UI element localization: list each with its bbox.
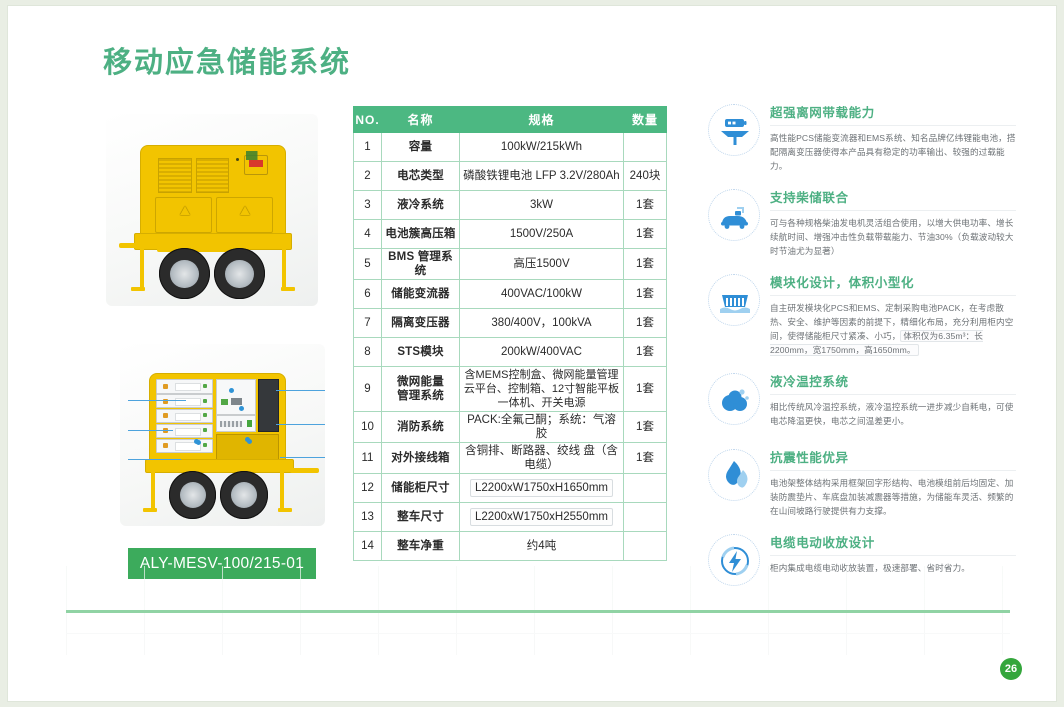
feature-list: 超强离网带载能力高性能PCS储能变流器和EMS系统、知名品牌亿纬锂能电池，搭配隔… [708,102,1016,608]
warning-triangle-icon [240,206,250,215]
table-row: 3液冷系统3kW1套 [354,191,667,220]
cell-name: 隔离变压器 [382,309,460,338]
feature-item: 支持柴储联合可与各种规格柴油发电机灵活组合使用，以增大供电功率、增长续航时间、增… [708,187,1016,258]
cell-name: 消防系统 [382,412,460,443]
table-row: 7隔离变压器380/400V，100kVA1套 [354,309,667,338]
cell-no: 11 [354,443,382,474]
cell-spec: 约4吨 [460,532,624,561]
cell-qty [624,532,667,561]
table-header-row: NO. 名称 规格 数量 [354,107,667,133]
cell-qty: 1套 [624,443,667,474]
col-header-qty: 数量 [624,107,667,133]
indicator-lamp [236,158,239,161]
cell-no: 4 [354,220,382,249]
photo-trailer-closed [106,114,318,306]
feature-description: 高性能PCS储能变流器和EMS系统、知名品牌亿纬锂能电池，搭配隔离变压器使得本产… [770,131,1016,173]
cabinet-body [140,145,286,237]
support-foot-rear [281,287,295,291]
cell-no: 1 [354,133,382,162]
col-header-no: NO. [354,107,382,133]
page-title: 移动应急储能系统 [103,44,351,82]
decorative-grid [66,613,1010,655]
cell-no: 5 [354,249,382,280]
callout-dot [239,406,244,411]
module-cabinet-icon [708,274,760,326]
cell-spec: 磷酸铁锂电池 LFP 3.2V/280Ah [460,162,624,191]
battery-plug-icon [708,104,760,156]
cell-qty: 1套 [624,367,667,412]
cell-spec: 380/400V，100kVA [460,309,624,338]
feature-title: 电缆电动收放设计 [770,532,1016,556]
cell-name: 液冷系统 [382,191,460,220]
cell-no: 13 [354,503,382,532]
cell-qty: 240块 [624,162,667,191]
slide-canvas: 移动应急储能系统 [8,6,1056,701]
feature-item: 超强离网带载能力高性能PCS储能变流器和EMS系统、知名品牌亿纬锂能电池，搭配隔… [708,102,1016,173]
callout-dot [247,439,252,444]
support-leg-front [140,246,144,288]
callout-line [276,424,325,425]
col-header-spec: 规格 [460,107,624,133]
cell-name: 对外接线箱 [382,443,460,474]
warning-triangle-icon [180,206,190,215]
cell-no: 8 [354,338,382,367]
callout-dot [229,388,234,393]
cell-name: 储能变流器 [382,280,460,309]
cell-no: 9 [354,367,382,412]
support-leg-rear [280,471,284,509]
cell-spec: 3kW [460,191,624,220]
feature-item: 抗震性能优异电池架整体结构采用框架回字形结构、电池模组前后均固定、加装防震垫片、… [708,447,1016,518]
support-foot-rear [278,508,292,512]
table-row: 12储能柜尺寸L2200xW1750xH1650mm [354,474,667,503]
cell-qty [624,503,667,532]
table-row: 2电芯类型磷酸铁锂电池 LFP 3.2V/280Ah240块 [354,162,667,191]
cell-qty [624,474,667,503]
trailer-illustration-closed [106,114,318,306]
battery-pack-shelf [156,439,212,453]
control-compartment [216,379,256,414]
access-door-right [216,197,273,233]
cell-name: 整车净重 [382,532,460,561]
cell-name: 储能柜尺寸 [382,474,460,503]
col-header-name: 名称 [382,107,460,133]
table-row: 6储能变流器400VAC/100kW1套 [354,280,667,309]
callout-line [276,390,325,391]
support-leg-front [151,471,155,509]
cell-qty: 1套 [624,280,667,309]
cell-spec: 100kW/215kWh [460,133,624,162]
cell-qty: 1套 [624,412,667,443]
cabinet-body-open [149,373,286,462]
cell-no: 2 [354,162,382,191]
louver-vent-left [158,158,192,192]
cell-spec: 含MEMS控制盒、微网能量管理云平台、控制箱、12寸智能平板一体机、开关电源 [460,367,624,412]
cell-spec: 高压1500V [460,249,624,280]
cell-no: 14 [354,532,382,561]
callout-line [128,400,185,401]
louver-vent-right [196,158,230,192]
cell-no: 3 [354,191,382,220]
cell-qty: 1套 [624,220,667,249]
cell-qty: 1套 [624,249,667,280]
table-row: 14整车净重约4吨 [354,532,667,561]
table-row: 11对外接线箱含铜排、断路器、绞线 盘（含电缆）1套 [354,443,667,474]
feature-description: 可与各种规格柴油发电机灵活组合使用，以增大供电功率、增长续航时间、增强冲击性负载… [770,216,1016,258]
trailer-illustration-open [120,344,325,526]
table-body: 1容量100kW/215kWh2电芯类型磷酸铁锂电池 LFP 3.2V/280A… [354,133,667,561]
support-leg-rear [282,246,286,288]
cell-spec: L2200xW1750xH1650mm [460,474,624,503]
table-row: 8STS模块200kW/400VAC1套 [354,338,667,367]
callout-line [280,457,325,458]
cell-name: 容量 [382,133,460,162]
feature-title: 液冷温控系统 [770,371,1016,395]
chassis-frame [145,459,295,474]
decorative-background-band [66,566,1010,610]
brand-logo [246,151,276,160]
cell-qty: 1套 [624,191,667,220]
callout-line [128,430,173,431]
battery-pack-shelf [156,424,212,438]
specification-table: NO. 名称 规格 数量 1容量100kW/215kWh2电芯类型磷酸铁锂电池 … [353,106,667,561]
cell-name: STS模块 [382,338,460,367]
breaker-panel [216,415,256,432]
shock-resistant-leaf-icon [708,449,760,501]
feature-description: 自主研发模块化PCS和EMS、定制采购电池PACK，在考虑散热、安全、维护等因素… [770,301,1016,357]
feature-item: 模块化设计，体积小型化自主研发模块化PCS和EMS、定制采购电池PACK，在考虑… [708,272,1016,357]
photo-trailer-open [120,344,325,526]
cell-spec: 1500V/250A [460,220,624,249]
liquid-cooling-cloud-icon [708,373,760,425]
cell-spec: L2200xW1750xH2550mm [460,503,624,532]
cell-spec: 400VAC/100kW [460,280,624,309]
feature-description-highlight: 体积仅为6.35m³：长2200mm，宽1750mm，高1650mm。 [770,330,983,356]
feature-title: 超强离网带载能力 [770,102,1016,126]
cell-spec: PACK:全氟己酮；系统：气溶胶 [460,412,624,443]
feature-title: 支持柴储联合 [770,187,1016,211]
table-row: 4电池簇高压箱1500V/250A1套 [354,220,667,249]
access-door-left [155,197,212,233]
electric-car-charging-icon [708,189,760,241]
table-row: 9微网能量管理系统含MEMS控制盒、微网能量管理云平台、控制箱、12寸智能平板一… [354,367,667,412]
cell-no: 12 [354,474,382,503]
support-foot-front [131,287,145,291]
cell-no: 6 [354,280,382,309]
trailer-tongue [290,468,319,473]
table-row: 13整车尺寸L2200xW1750xH2550mm [354,503,667,532]
callout-line [128,459,181,460]
feature-description: 电池架整体结构采用框架回字形结构、电池模组前后均固定、加装防震垫片、车底盘加装减… [770,476,1016,518]
feature-title: 模块化设计，体积小型化 [770,272,1016,296]
support-foot-front [143,508,157,512]
wheel-rear [220,471,267,518]
cell-qty: 1套 [624,338,667,367]
cell-name: 电池簇高压箱 [382,220,460,249]
cell-name: 微网能量管理系统 [382,367,460,412]
cell-qty [624,133,667,162]
table-row: 1容量100kW/215kWh [354,133,667,162]
cell-name: 整车尺寸 [382,503,460,532]
wheel-rear [214,248,265,299]
cell-name: BMS 管理系统 [382,249,460,280]
feature-title: 抗震性能优异 [770,447,1016,471]
feature-item: 液冷温控系统相比传统风冷温控系统，液冷温控系统一进步减少自耗电，可使电芯降温更快… [708,371,1016,433]
battery-pack-shelf [156,409,212,423]
table-row: 5BMS 管理系统高压1500V1套 [354,249,667,280]
page-number-badge: 26 [1000,658,1022,680]
feature-description: 相比传统风冷温控系统，液冷温控系统一进步减少自耗电，可使电芯降温更快，电芯之间温… [770,400,1016,428]
wheel-front [169,471,216,518]
cell-qty: 1套 [624,309,667,338]
cell-no: 7 [354,309,382,338]
cell-spec: 含铜排、断路器、绞线 盘（含电缆） [460,443,624,474]
cell-name: 电芯类型 [382,162,460,191]
wheel-front [159,248,210,299]
cell-no: 10 [354,412,382,443]
battery-pack-shelf [156,379,212,393]
cell-spec: 200kW/400VAC [460,338,624,367]
table-row: 10消防系统PACK:全氟己酮；系统：气溶胶1套 [354,412,667,443]
